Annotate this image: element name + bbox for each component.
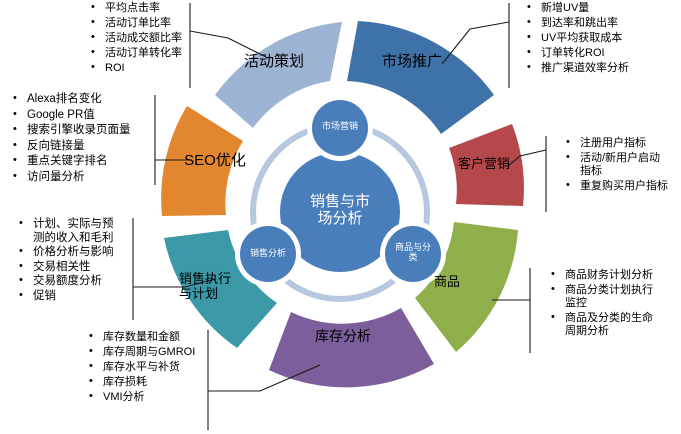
callout-list: 平均点击率 活动订单比率 活动成交额比率 活动订单转化率 ROI bbox=[88, 2, 190, 75]
callout-item: 到达率和跳出率 bbox=[524, 17, 674, 30]
callout-product-metrics: 商品财务计划分析 商品分类计划执行 监控 商品及分类的生命 周期分析 bbox=[548, 269, 678, 340]
callout-item: 推广渠道效率分析 bbox=[524, 62, 674, 75]
callout-item: 访问量分析 bbox=[10, 171, 156, 185]
callout-campaign-planning-metrics: 平均点击率 活动订单比率 活动成交额比率 活动订单转化率 ROI bbox=[88, 2, 190, 77]
callout-item: 库存数量和金额 bbox=[86, 331, 210, 344]
callout-item: 重点关键字排名 bbox=[10, 155, 156, 169]
callout-item: 活动成交额比率 bbox=[88, 32, 190, 45]
satellite-product-category[interactable] bbox=[385, 226, 441, 282]
callout-seo-metrics: Alexa排名变化 Google PR值 搜索引擎收录页面量 反向链接量 重点关… bbox=[10, 93, 156, 186]
callout-item: 重复购买用户指标 bbox=[563, 180, 681, 193]
callout-item: ROI bbox=[88, 62, 190, 75]
callout-inventory-metrics: 库存数量和金额 库存周期与GMROI 库存水平与补货 库存损耗 VMI分析 bbox=[86, 331, 210, 406]
callout-list: 注册用户指标 活动/新用户启动 指标 重复购买用户指标 bbox=[563, 137, 681, 193]
callout-list: 商品财务计划分析 商品分类计划执行 监控 商品及分类的生命 周期分析 bbox=[548, 269, 678, 338]
callout-item: VMI分析 bbox=[86, 391, 210, 404]
callout-item: 计划、实际与预 测的收入和毛利 bbox=[16, 218, 134, 245]
callout-item: 平均点击率 bbox=[88, 2, 190, 15]
callout-list: 新增UV量 到达率和跳出率 UV平均获取成本 订单转化ROI 推广渠道效率分析 bbox=[524, 2, 674, 75]
callout-item: 交易额度分析 bbox=[16, 275, 134, 289]
callout-item: 活动订单比率 bbox=[88, 17, 190, 30]
callout-item: 交易相关性 bbox=[16, 261, 134, 275]
callout-item: 价格分析与影响 bbox=[16, 246, 134, 260]
petal-seo-optimization[interactable] bbox=[161, 106, 243, 216]
callout-item: 新增UV量 bbox=[524, 2, 674, 15]
satellite-marketing[interactable] bbox=[312, 100, 368, 156]
callout-item: 活动订单转化率 bbox=[88, 47, 190, 60]
callout-item: 库存损耗 bbox=[86, 376, 210, 389]
satellite-sales-analysis[interactable] bbox=[240, 226, 296, 282]
callout-customer-marketing-metrics: 注册用户指标 活动/新用户启动 指标 重复购买用户指标 bbox=[563, 137, 681, 195]
diagram-canvas: 活动策划 市场推广 客户营销 商品 库存分析 销售执行 与计划 SEO优化 销售… bbox=[0, 0, 681, 434]
callout-item: 搜索引擎收录页面量 bbox=[10, 124, 156, 138]
callout-item: 订单转化ROI bbox=[524, 47, 674, 60]
callout-list: 计划、实际与预 测的收入和毛利 价格分析与影响 交易相关性 交易额度分析 促销 bbox=[16, 218, 134, 303]
callout-list: 库存数量和金额 库存周期与GMROI 库存水平与补货 库存损耗 VMI分析 bbox=[86, 331, 210, 404]
callout-item: 库存水平与补货 bbox=[86, 361, 210, 374]
callout-sales-execution-metrics: 计划、实际与预 测的收入和毛利 价格分析与影响 交易相关性 交易额度分析 促销 bbox=[16, 218, 134, 304]
callout-item: 商品财务计划分析 bbox=[548, 269, 678, 282]
petal-customer-marketing[interactable] bbox=[449, 124, 524, 206]
callout-item: 库存周期与GMROI bbox=[86, 346, 210, 359]
callout-item: 促销 bbox=[16, 290, 134, 304]
callout-item: 注册用户指标 bbox=[563, 137, 681, 150]
callout-item: UV平均获取成本 bbox=[524, 32, 674, 45]
callout-list: Alexa排名变化 Google PR值 搜索引擎收录页面量 反向链接量 重点关… bbox=[10, 93, 156, 184]
callout-item: Google PR值 bbox=[10, 109, 156, 123]
callout-item: 商品及分类的生命 周期分析 bbox=[548, 312, 678, 338]
callout-item: 活动/新用户启动 指标 bbox=[563, 152, 681, 178]
petal-inventory-analysis[interactable] bbox=[269, 308, 434, 387]
leader-campaign-planning bbox=[190, 31, 268, 58]
callout-item: 商品分类计划执行 监控 bbox=[548, 284, 678, 310]
callout-item: Alexa排名变化 bbox=[10, 93, 156, 107]
callout-market-promotion-metrics: 新增UV量 到达率和跳出率 UV平均获取成本 订单转化ROI 推广渠道效率分析 bbox=[524, 2, 674, 77]
callout-item: 反向链接量 bbox=[10, 140, 156, 154]
